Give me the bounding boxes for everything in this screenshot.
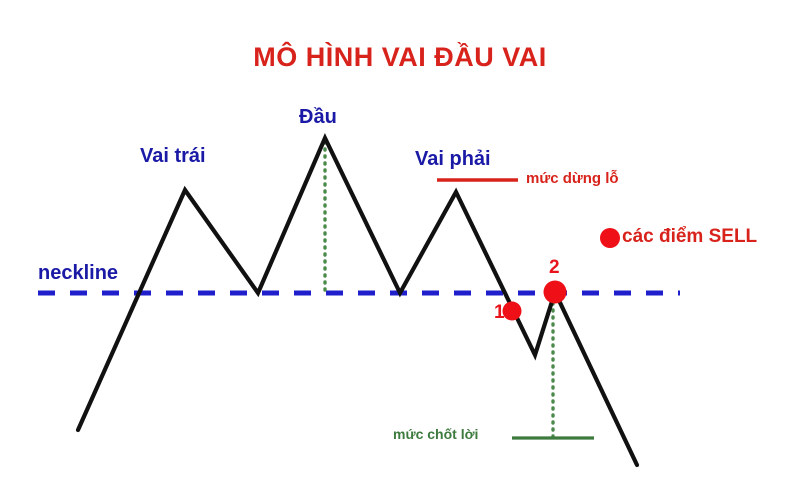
sell-legend-dot-icon: [600, 228, 620, 248]
sell-point-2-marker[interactable]: [544, 281, 567, 304]
right-shoulder-label: Vai phải: [415, 149, 491, 169]
sell-point-2-label: 2: [549, 258, 560, 277]
stop-loss-label: mức dừng lỗ: [526, 171, 619, 186]
sell-points-legend-label: các điểm SELL: [622, 227, 757, 246]
head-and-shoulders-diagram: MÔ HÌNH VAI ĐẦU VAI Vai trái Đầu Vai phả…: [0, 0, 800, 500]
page-title: MÔ HÌNH VAI ĐẦU VAI: [0, 44, 800, 71]
sell-point-1-label: 1: [494, 303, 505, 322]
sell-point-1-marker[interactable]: [503, 302, 522, 321]
take-profit-label: mức chốt lời: [393, 427, 478, 441]
chart-canvas: [0, 0, 800, 500]
head-label: Đầu: [299, 107, 337, 127]
left-shoulder-label: Vai trái: [140, 146, 206, 166]
neckline-label: neckline: [38, 263, 118, 283]
